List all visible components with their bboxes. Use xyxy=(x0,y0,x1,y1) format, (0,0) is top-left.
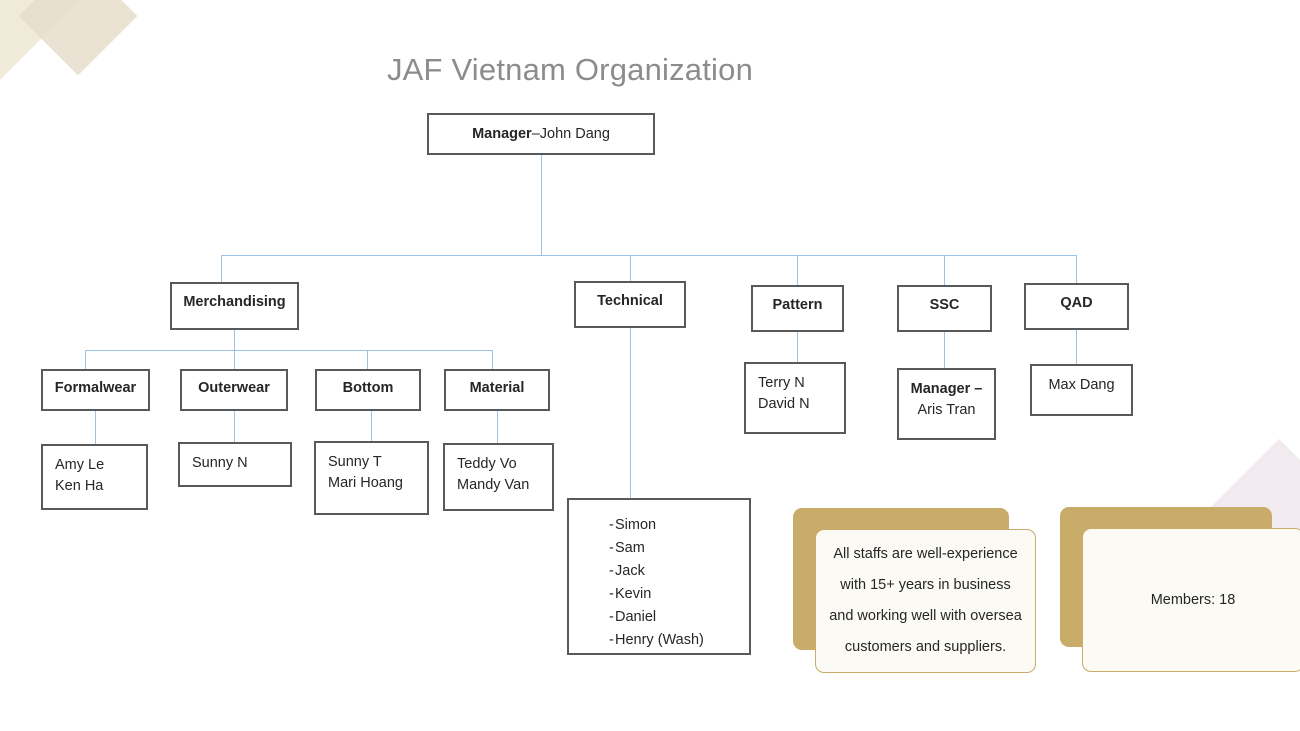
member-name: Amy Le xyxy=(55,455,146,476)
note-card-text: All staffs are well-experience with 15+ … xyxy=(817,539,1034,663)
team-label: Material xyxy=(470,380,525,396)
member-name: Kevin xyxy=(615,583,651,606)
node-department-qad[interactable]: QAD xyxy=(1024,283,1129,330)
department-label: Pattern xyxy=(773,297,823,313)
connector-root-vertical xyxy=(541,153,542,256)
connector-drop-formalwear xyxy=(85,350,86,369)
member-name: Mandy Van xyxy=(457,475,552,496)
node-members-outerwear[interactable]: Sunny N xyxy=(178,442,292,487)
bullet-dash: - xyxy=(569,606,615,629)
node-members-qad[interactable]: Max Dang xyxy=(1030,364,1133,416)
member-name: Ken Ha xyxy=(55,476,146,497)
node-team-outerwear[interactable]: Outerwear xyxy=(180,369,288,411)
root-role-label: Manager xyxy=(472,126,532,142)
root-separator: – xyxy=(532,126,540,142)
department-label: SSC xyxy=(930,297,960,313)
note-line: with 15+ years in business xyxy=(829,570,1022,601)
note-line: and working well with oversea xyxy=(829,601,1022,632)
node-members-formalwear[interactable]: Amy Le Ken Ha xyxy=(41,444,148,510)
team-label: Bottom xyxy=(343,380,394,396)
connector-pattern-members xyxy=(797,332,798,362)
bullet-dash: - xyxy=(569,514,615,537)
connector-drop-material xyxy=(492,350,493,369)
connector-material-members xyxy=(497,411,498,443)
connector-drop-bottom xyxy=(367,350,368,369)
connector-qad-members xyxy=(1076,330,1077,364)
member-name: Simon xyxy=(615,514,656,537)
note-line: customers and suppliers. xyxy=(829,632,1022,663)
node-department-pattern[interactable]: Pattern xyxy=(751,285,844,332)
member-name: Mari Hoang xyxy=(328,473,427,494)
list-item: - Kevin xyxy=(569,583,749,606)
node-team-material[interactable]: Material xyxy=(444,369,550,411)
list-item: - Daniel xyxy=(569,606,749,629)
connector-merchandising-down xyxy=(234,330,235,351)
connector-drop-ssc xyxy=(944,255,945,285)
bullet-dash: - xyxy=(569,537,615,560)
note-card[interactable]: All staffs are well-experience with 15+ … xyxy=(815,529,1036,673)
members-card-text: Members: 18 xyxy=(1151,592,1236,608)
node-members-technical[interactable]: - Simon - Sam - Jack - Kevin - Daniel - … xyxy=(567,498,751,655)
list-item: - Jack xyxy=(569,560,749,583)
connector-formalwear-members xyxy=(95,411,96,444)
node-department-merchandising[interactable]: Merchandising xyxy=(170,282,299,330)
member-name: Daniel xyxy=(615,606,656,629)
node-manager-root[interactable]: Manager – John Dang xyxy=(427,113,655,155)
bullet-dash: - xyxy=(569,560,615,583)
connector-drop-technical xyxy=(630,255,631,281)
node-department-ssc[interactable]: SSC xyxy=(897,285,992,332)
connector-drop-merchandising xyxy=(221,255,222,282)
connector-outerwear-members xyxy=(234,411,235,442)
ssc-name-line: Aris Tran xyxy=(899,400,994,421)
connector-main-bus xyxy=(221,255,1076,256)
members-card[interactable]: Members: 18 xyxy=(1082,528,1300,672)
member-name: David N xyxy=(758,394,844,415)
bullet-dash: - xyxy=(569,583,615,606)
member-name: Teddy Vo xyxy=(457,454,552,475)
team-label: Outerwear xyxy=(198,380,270,396)
bullet-dash: - xyxy=(569,629,615,652)
list-item: - Sam xyxy=(569,537,749,560)
connector-merchandising-bus xyxy=(85,350,492,351)
node-members-pattern[interactable]: Terry N David N xyxy=(744,362,846,434)
connector-drop-qad xyxy=(1076,255,1077,283)
connector-technical-members xyxy=(630,328,631,498)
connector-ssc-members xyxy=(944,332,945,368)
department-label: QAD xyxy=(1060,295,1092,311)
page-title: JAF Vietnam Organization xyxy=(0,52,1140,88)
slide-canvas: JAF Vietnam Organization Manager – John … xyxy=(0,0,1300,731)
list-item: - Simon xyxy=(569,514,749,537)
member-name: Henry (Wash) xyxy=(615,629,704,652)
node-team-bottom[interactable]: Bottom xyxy=(315,369,421,411)
member-name: Terry N xyxy=(758,373,844,394)
node-members-bottom[interactable]: Sunny T Mari Hoang xyxy=(314,441,429,515)
member-name: Sunny N xyxy=(192,453,290,474)
list-item: - Henry (Wash) xyxy=(569,629,749,652)
team-label: Formalwear xyxy=(55,380,136,396)
node-department-technical[interactable]: Technical xyxy=(574,281,686,328)
node-team-formalwear[interactable]: Formalwear xyxy=(41,369,150,411)
connector-drop-outerwear xyxy=(234,350,235,369)
root-name-label: John Dang xyxy=(540,126,610,142)
connector-bottom-members xyxy=(371,411,372,441)
member-name: Jack xyxy=(615,560,645,583)
note-line: All staffs are well-experience xyxy=(829,539,1022,570)
member-name: Max Dang xyxy=(1032,375,1131,396)
department-label: Merchandising xyxy=(183,294,285,310)
node-members-material[interactable]: Teddy Vo Mandy Van xyxy=(443,443,554,511)
connector-drop-pattern xyxy=(797,255,798,285)
member-name: Sam xyxy=(615,537,645,560)
node-members-ssc[interactable]: Manager – Aris Tran xyxy=(897,368,996,440)
ssc-role-line: Manager – xyxy=(899,379,994,400)
department-label: Technical xyxy=(597,293,663,309)
member-name: Sunny T xyxy=(328,452,427,473)
